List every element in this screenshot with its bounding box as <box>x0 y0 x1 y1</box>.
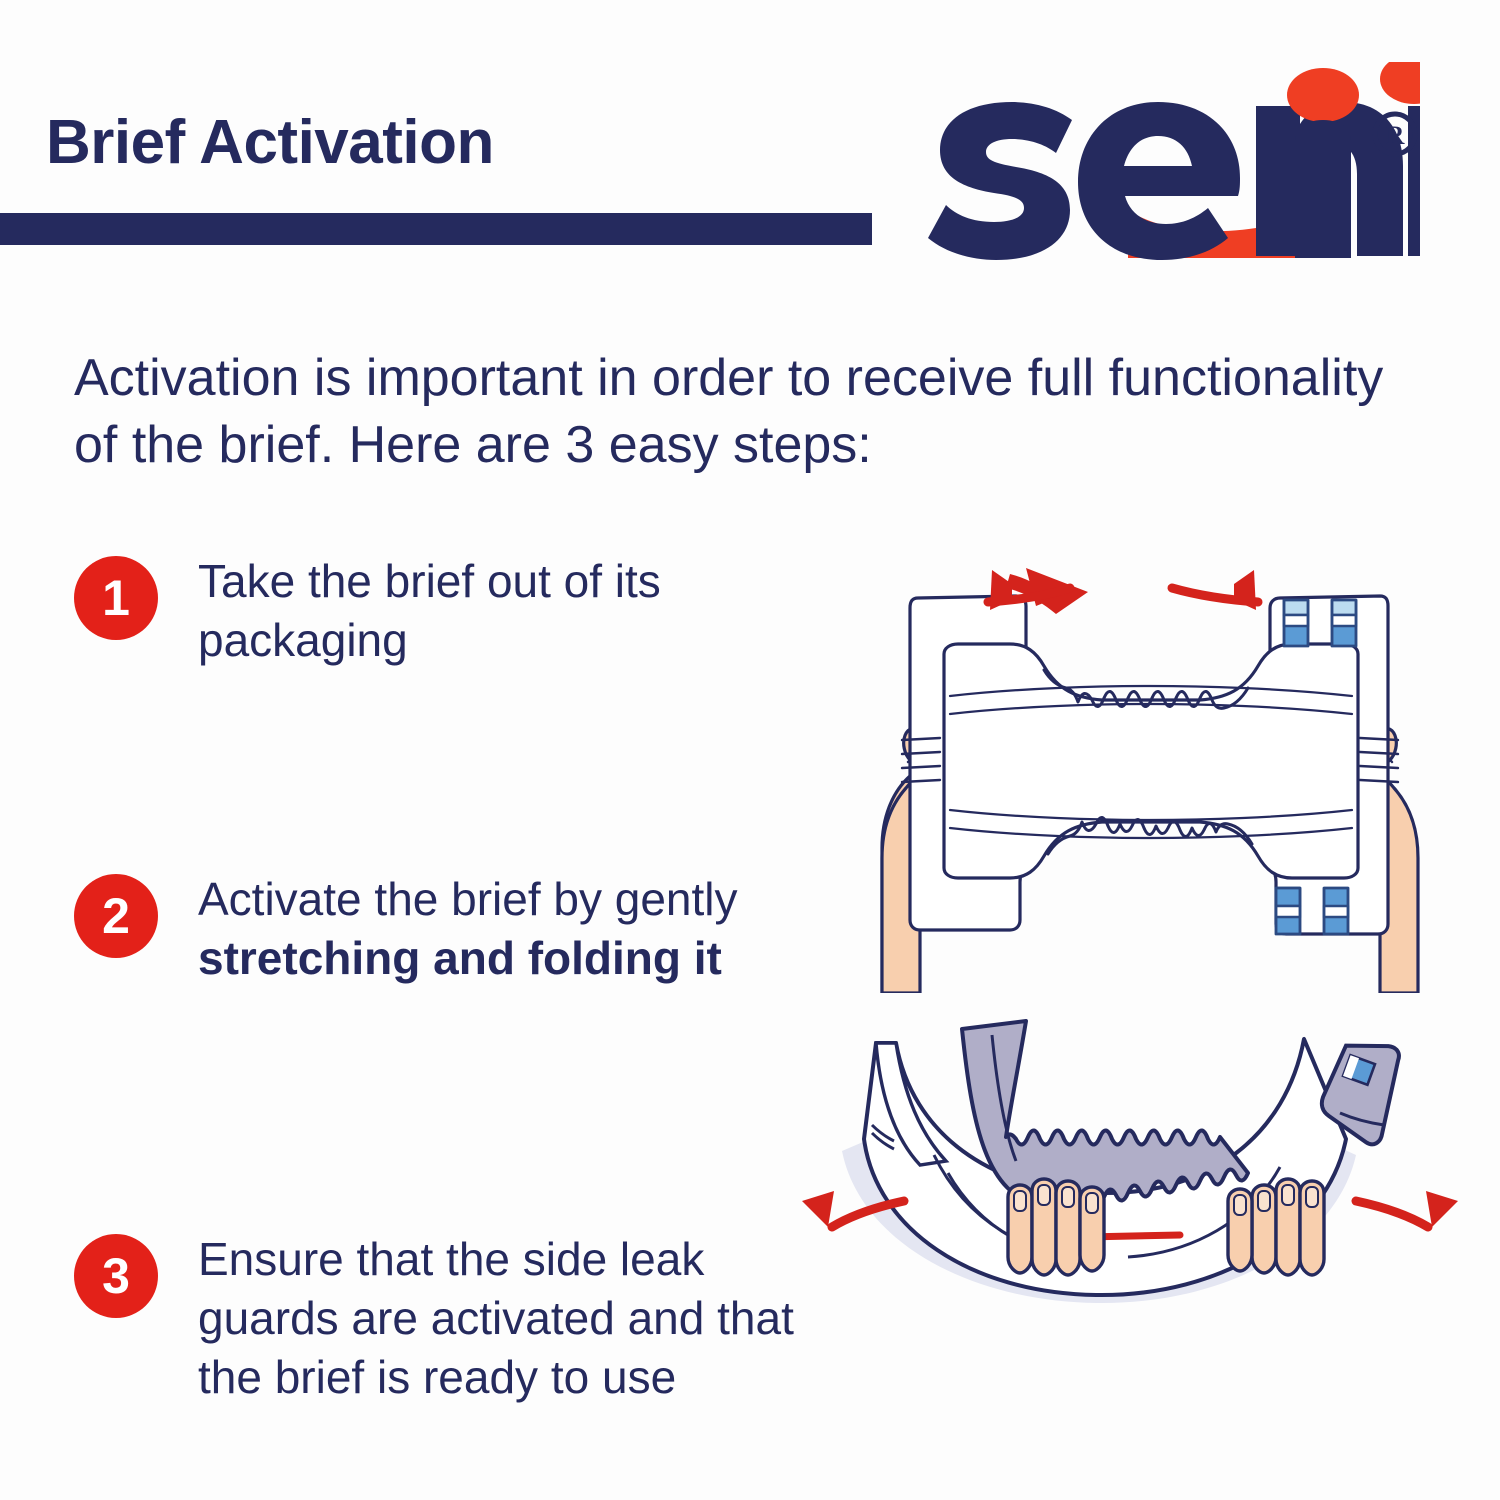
step-text-1-normal: Take the brief out of its packaging <box>198 555 661 666</box>
step-text-2-bold: stretching and folding it <box>198 932 722 984</box>
step-badge-3: 3 <box>74 1234 158 1318</box>
step-badge-2: 2 <box>74 874 158 958</box>
step-text-3-normal: Ensure that the side leak guards are act… <box>198 1233 794 1403</box>
logo-i-and-trademark: R <box>1245 62 1445 272</box>
step-text-2-normal: Activate the brief by gently <box>198 873 738 925</box>
registered-trademark-icon: R <box>1375 114 1415 154</box>
tab-bottom-1 <box>1276 888 1300 934</box>
logo-letter-e <box>1078 102 1240 260</box>
step-badge-1: 1 <box>74 556 158 640</box>
intro-paragraph: Activation is important in order to rece… <box>74 345 1394 478</box>
step-item-1: 1 Take the brief out of its packaging <box>74 552 800 670</box>
logo-i-stem <box>1295 120 1351 258</box>
right-hand-fingers <box>1228 1179 1324 1275</box>
arrow-right-icon <box>1426 1191 1458 1227</box>
illustration-hands-folding-brief <box>780 1005 1480 1315</box>
step-text-1: Take the brief out of its packaging <box>198 552 800 670</box>
arrow-left-icon <box>802 1191 834 1227</box>
step-text-3: Ensure that the side leak guards are act… <box>198 1230 800 1407</box>
step-item-3: 3 Ensure that the side leak guards are a… <box>74 1230 800 1407</box>
logo-i-dot <box>1287 68 1359 122</box>
header: Brief Activation <box>0 0 1500 300</box>
left-hand-fingers <box>1008 1179 1104 1275</box>
tab-top-1 <box>1284 600 1308 646</box>
svg-text:R: R <box>1386 121 1405 150</box>
tab-bottom-2 <box>1324 888 1348 934</box>
page-title: Brief Activation <box>46 112 494 174</box>
tab-top-2 <box>1332 600 1356 646</box>
title-divider <box>0 213 872 245</box>
stretch-arrows <box>988 568 1258 614</box>
brief-body <box>902 596 1398 934</box>
logo-letter-s <box>928 102 1072 260</box>
infographic-page: Brief Activation <box>0 0 1500 1500</box>
illustration-hands-stretching-brief <box>840 548 1460 993</box>
step-text-2: Activate the brief by gently stretching … <box>198 870 800 988</box>
step-item-2: 2 Activate the brief by gently stretchin… <box>74 870 800 988</box>
